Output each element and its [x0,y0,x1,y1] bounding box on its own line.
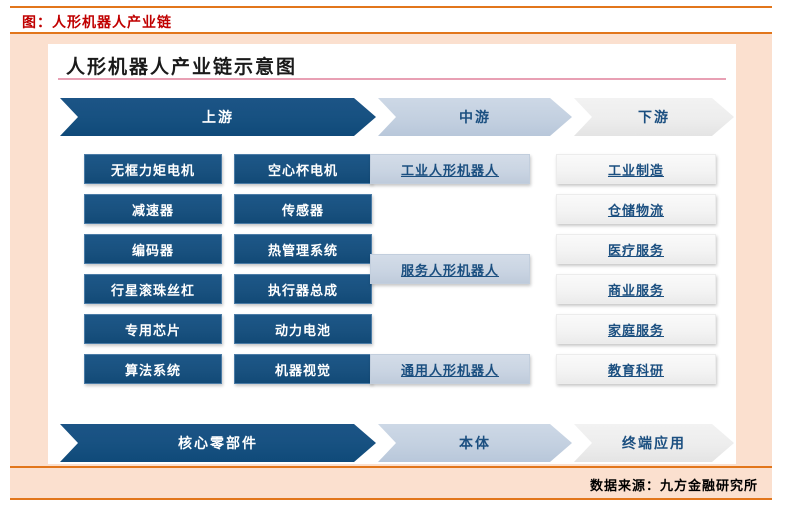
diagram-title: 人形机器人产业链示意图 [66,52,297,79]
midstream-item[interactable]: 工业人形机器人 [370,154,530,184]
stage-chevron-upstream-label: 上游 [202,107,234,127]
upstream-item[interactable]: 热管理系统 [234,234,372,264]
midstream-item-label: 通用人形机器人 [401,360,499,379]
midstream-item[interactable]: 服务人形机器人 [370,254,530,284]
upstream-item[interactable]: 机器视觉 [234,354,372,384]
stage-chevron-midstream-label: 中游 [459,107,491,127]
midstream-item[interactable]: 通用人形机器人 [370,354,530,384]
upstream-item[interactable]: 传感器 [234,194,372,224]
upstream-item[interactable]: 专用芯片 [84,314,222,344]
upstream-item-label: 编码器 [132,240,174,259]
upstream-item-label: 行星滚珠丝杠 [111,280,195,299]
upstream-item[interactable]: 动力电池 [234,314,372,344]
stage-chevron-midstream[interactable]: 中游 [378,98,572,136]
downstream-item-label: 仓储物流 [608,200,664,219]
diagram-card: 人形机器人产业链示意图 上游 中游 下游 无框力矩电机 减速器 编码器 行星滚珠… [48,44,736,464]
upstream-item-label: 执行器总成 [268,280,338,299]
upstream-item-label: 专用芯片 [125,320,181,339]
figure-caption-bar: 图：人形机器人产业链 [10,6,772,34]
downstream-item[interactable]: 教育科研 [556,354,716,384]
stage-banner-top: 上游 中游 下游 [60,98,724,136]
title-divider [58,78,726,80]
stage-chevron-body-label: 本体 [459,433,491,453]
upstream-item[interactable]: 行星滚珠丝杠 [84,274,222,304]
downstream-item-label: 家庭服务 [608,320,664,339]
midstream-item-label: 服务人形机器人 [401,260,499,279]
upstream-item-label: 机器视觉 [275,360,331,379]
upstream-item-label: 减速器 [132,200,174,219]
upstream-item-label: 空心杯电机 [268,160,338,179]
upstream-item[interactable]: 减速器 [84,194,222,224]
stage-chevron-downstream[interactable]: 下游 [574,98,734,136]
upstream-item-label: 热管理系统 [268,240,338,259]
downstream-item[interactable]: 家庭服务 [556,314,716,344]
downstream-item[interactable]: 商业服务 [556,274,716,304]
upstream-item-label: 无框力矩电机 [111,160,195,179]
stage-chevron-upstream[interactable]: 上游 [60,98,376,136]
stage-banner-bottom: 核心零部件 本体 终端应用 [60,424,724,462]
stage-chevron-end-application[interactable]: 终端应用 [574,424,734,462]
downstream-item[interactable]: 医疗服务 [556,234,716,264]
stage-chevron-core-components-label: 核心零部件 [178,433,258,453]
downstream-item[interactable]: 仓储物流 [556,194,716,224]
downstream-item-label: 教育科研 [608,360,664,379]
upstream-item[interactable]: 执行器总成 [234,274,372,304]
upstream-item-label: 算法系统 [125,360,181,379]
stage-chevron-downstream-label: 下游 [638,107,670,127]
diagram-body: 无框力矩电机 减速器 编码器 行星滚珠丝杠 专用芯片 算法系统 空心杯电机 传感… [60,148,724,418]
stage-chevron-core-components[interactable]: 核心零部件 [60,424,376,462]
source-bar: 数据来源：九方金融研究所 [10,466,772,500]
downstream-item-label: 商业服务 [608,280,664,299]
downstream-item-label: 医疗服务 [608,240,664,259]
stage-chevron-body[interactable]: 本体 [378,424,572,462]
figure-caption: 图：人形机器人产业链 [22,12,172,32]
stage-chevron-end-application-label: 终端应用 [622,433,686,453]
upstream-item[interactable]: 算法系统 [84,354,222,384]
upstream-item[interactable]: 空心杯电机 [234,154,372,184]
downstream-item[interactable]: 工业制造 [556,154,716,184]
upstream-item[interactable]: 编码器 [84,234,222,264]
downstream-item-label: 工业制造 [608,160,664,179]
midstream-item-label: 工业人形机器人 [401,160,499,179]
source-text: 数据来源：九方金融研究所 [590,475,758,494]
upstream-item-label: 动力电池 [275,320,331,339]
upstream-item[interactable]: 无框力矩电机 [84,154,222,184]
upstream-item-label: 传感器 [282,200,324,219]
